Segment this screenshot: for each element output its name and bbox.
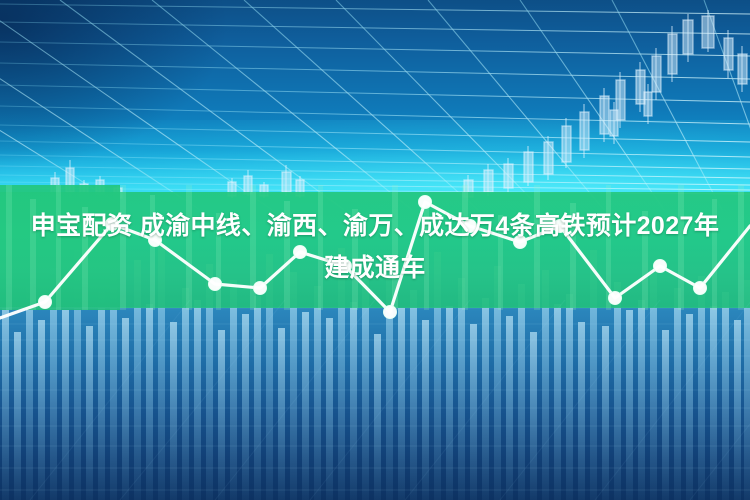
headline-line-1: 申宝配资 成渝中线、渝西、渝万、成达万4条高铁预计2027年 <box>14 205 736 247</box>
headline-line-2: 建成通车 <box>14 247 736 289</box>
headline-block: 申宝配资 成渝中线、渝西、渝万、成达万4条高铁预计2027年 建成通车 <box>0 205 750 289</box>
stock-banner-image: 申宝配资 成渝中线、渝西、渝万、成达万4条高铁预计2027年 建成通车 <box>0 0 750 500</box>
